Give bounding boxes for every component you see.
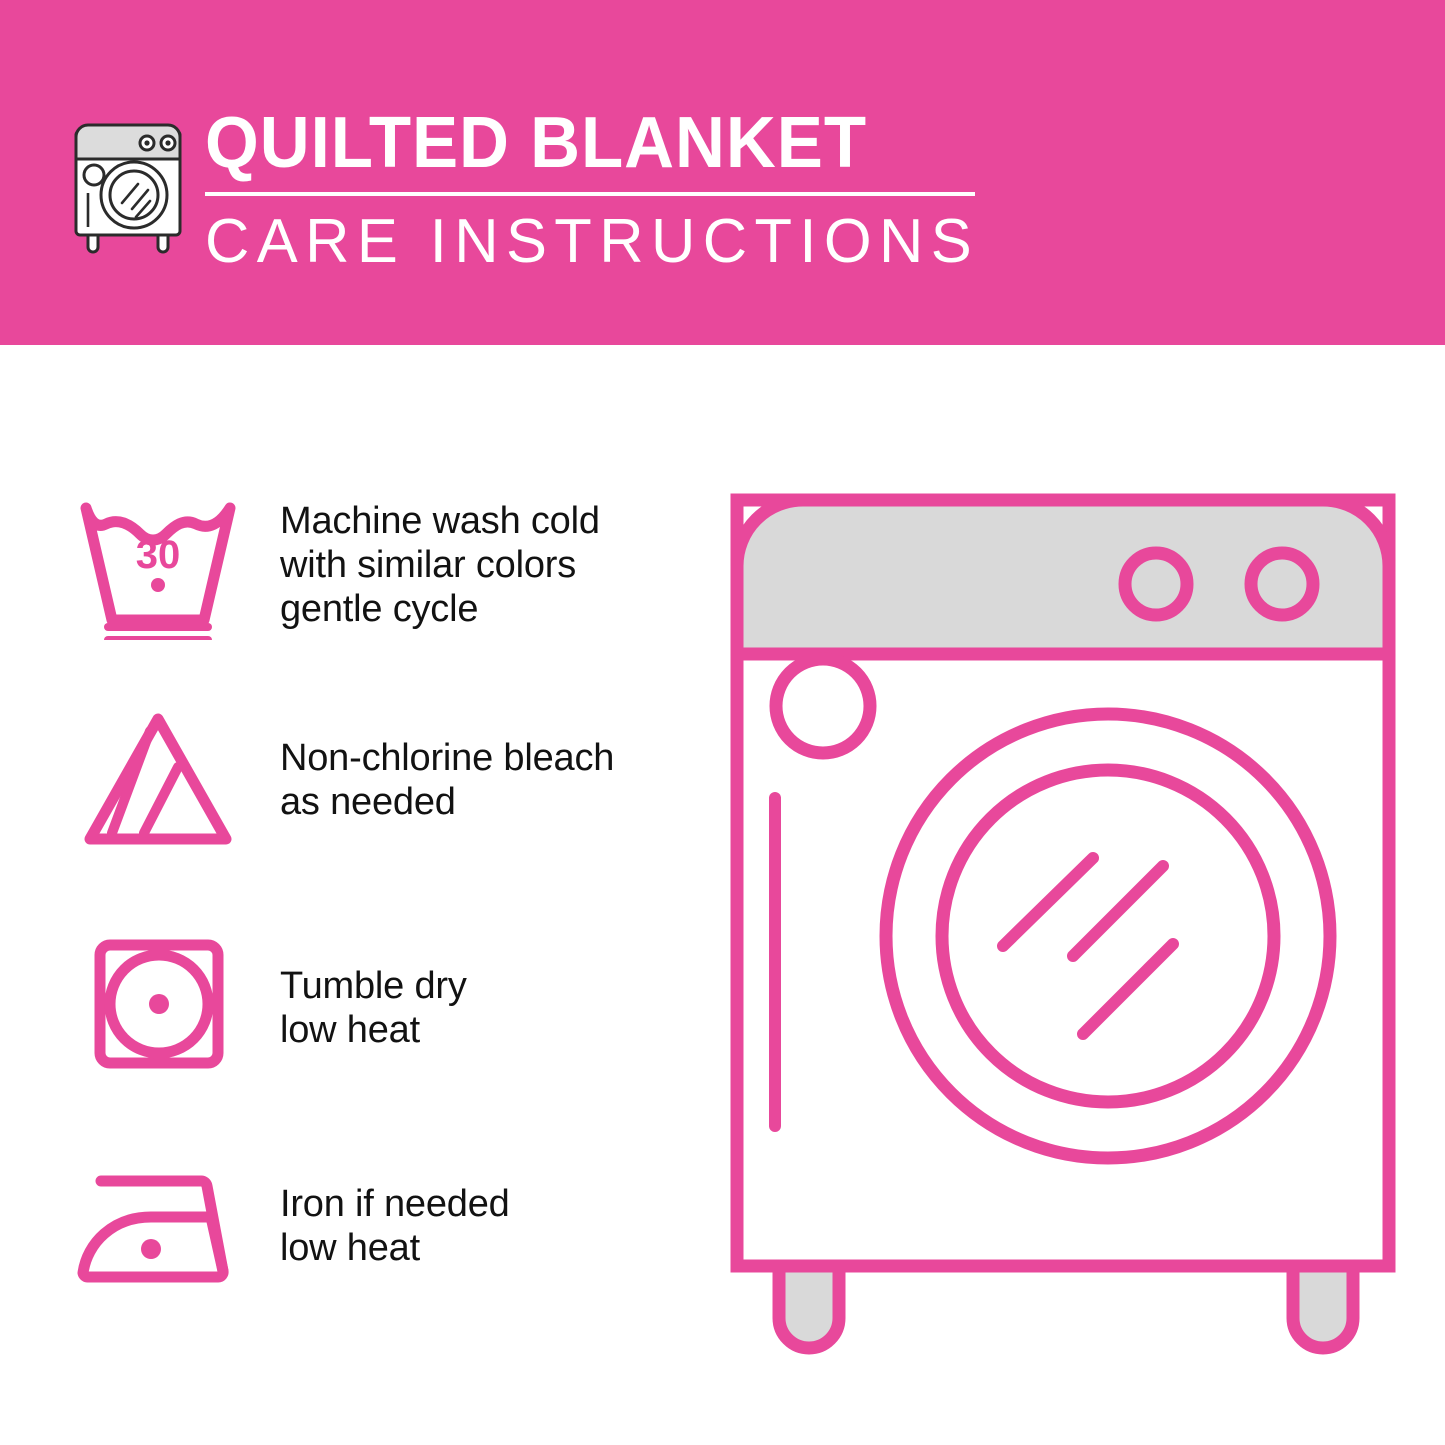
care-row-machine-wash: 30 Machine wash cold with similar colors… bbox=[0, 470, 700, 660]
care-label-machine-wash: Machine wash cold with similar colors ge… bbox=[280, 499, 600, 631]
iron-low-heat-icon bbox=[58, 1138, 258, 1313]
care-label-bleach: Non-chlorine bleach as needed bbox=[280, 736, 614, 824]
control-knob-right bbox=[1251, 553, 1313, 615]
header-banner: QUILTED BLANKET CARE INSTRUCTIONS bbox=[0, 0, 1445, 345]
header-title-group: QUILTED BLANKET CARE INSTRUCTIONS bbox=[205, 104, 995, 276]
washing-machine-illustration bbox=[715, 478, 1415, 1368]
care-row-bleach: Non-chlorine bleach as needed bbox=[0, 692, 700, 867]
washing-machine-icon bbox=[62, 103, 194, 255]
care-instructions-page: QUILTED BLANKET CARE INSTRUCTIONS 30 bbox=[0, 0, 1445, 1445]
control-knob-left bbox=[1125, 553, 1187, 615]
page-subtitle: CARE INSTRUCTIONS bbox=[205, 208, 987, 276]
care-row-iron: Iron if needed low heat bbox=[0, 1138, 700, 1313]
page-title: QUILTED BLANKET bbox=[205, 104, 963, 182]
leg-right bbox=[1293, 1266, 1353, 1348]
non-chlorine-bleach-triangle-icon bbox=[58, 692, 258, 867]
care-label-iron: Iron if needed low heat bbox=[280, 1182, 510, 1270]
care-row-tumble-dry: Tumble dry low heat bbox=[0, 920, 700, 1095]
care-label-tumble-dry: Tumble dry low heat bbox=[280, 964, 467, 1052]
wash-temperature-label: 30 bbox=[136, 533, 181, 577]
wash-tub-30-icon: 30 bbox=[58, 478, 258, 653]
leg-left bbox=[779, 1266, 839, 1348]
title-divider bbox=[205, 192, 975, 196]
tumble-dry-low-icon bbox=[58, 920, 258, 1095]
